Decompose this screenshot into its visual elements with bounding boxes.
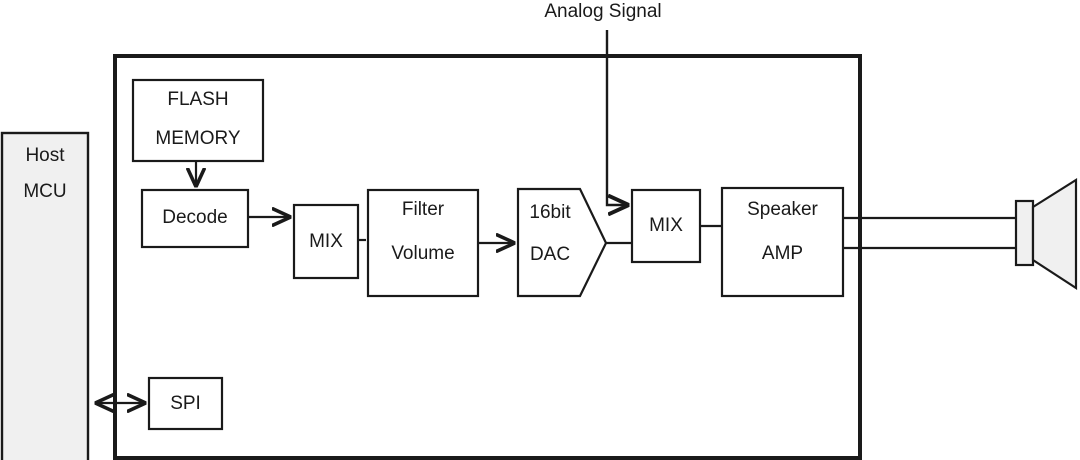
- speaker-amp-label: Speaker AMP: [722, 200, 843, 263]
- speaker-body-icon: [1016, 201, 1033, 265]
- spi-label: SPI: [149, 394, 222, 413]
- analog-signal-label: Analog Signal: [503, 2, 703, 21]
- dac-label-line1: 16bit: [514, 203, 586, 222]
- speaker-cone-icon: [1033, 180, 1076, 288]
- host-mcu-label: Host MCU: [2, 146, 88, 201]
- block-diagram-canvas: Analog Signal Host MCU FLASH MEMORY Deco…: [0, 0, 1080, 460]
- flash-memory-label-line2: MEMORY: [133, 129, 263, 148]
- speaker-amp-label-line2: AMP: [722, 244, 843, 263]
- host-mcu-label-line2: MCU: [2, 182, 88, 201]
- mix1-label: MIX: [294, 232, 358, 251]
- host-mcu-label-line1: Host: [2, 146, 88, 165]
- filter-volume-label: Filter Volume: [368, 200, 478, 263]
- flash-memory-label-line1: FLASH: [133, 90, 263, 109]
- speaker-amp-label-line1: Speaker: [722, 200, 843, 219]
- filter-volume-label-line2: Volume: [368, 244, 478, 263]
- dac-label-line2: DAC: [514, 245, 586, 264]
- filter-volume-label-line1: Filter: [368, 200, 478, 219]
- decode-label: Decode: [142, 208, 248, 227]
- dac-label: 16bit DAC: [514, 203, 586, 264]
- flash-memory-label: FLASH MEMORY: [133, 90, 263, 148]
- mix2-label: MIX: [632, 216, 700, 235]
